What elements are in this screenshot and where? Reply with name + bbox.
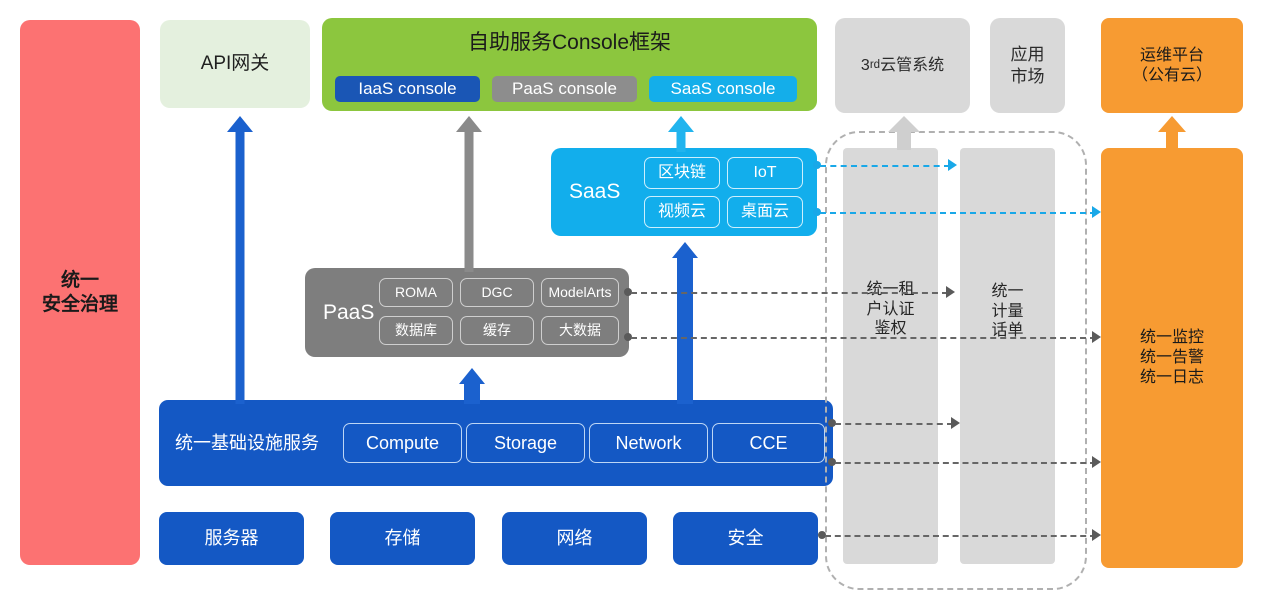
hardware-item-security: 安全 — [673, 512, 818, 565]
unified-infrastructure-label: 统一基础设施服务 — [175, 432, 319, 455]
saas-to-tenant-auth-line — [820, 165, 950, 167]
paas-item-bigdata[interactable]: 大数据 — [541, 316, 619, 345]
hardware-to-ops-line — [825, 535, 1096, 537]
saas-to-ops-arrowhead — [1092, 206, 1101, 218]
application-market-box: 应用 市场 — [990, 18, 1065, 113]
unified-tenant-auth-label: 统一租 户认证 鉴权 — [843, 280, 938, 339]
saas-item-desktop-cloud[interactable]: 桌面云 — [727, 196, 803, 228]
infra-to-ops-arrowhead — [1092, 456, 1101, 468]
unified-metering-column — [960, 148, 1055, 564]
unified-infrastructure-block: 统一基础设施服务 Compute Storage Network CCE — [159, 400, 833, 486]
saas-block: SaaS 区块链 IoT 视频云 桌面云 — [551, 148, 817, 236]
arrow-to-ops-platform — [1158, 116, 1186, 150]
hardware-to-ops-arrowhead — [1092, 529, 1101, 541]
architecture-diagram: 统一 安全治理 API网关 自助服务Console框架 IaaS console… — [0, 0, 1265, 605]
paas-item-modelarts[interactable]: ModelArts — [541, 278, 619, 307]
self-service-console-frame: 自助服务Console框架 IaaS console PaaS console … — [322, 18, 817, 111]
infra-to-tenant-auth-line — [835, 423, 953, 425]
paas-to-tenant-auth-arrowhead — [946, 286, 955, 298]
paas-item-database[interactable]: 数据库 — [379, 316, 453, 345]
saas-to-tenant-auth-arrowhead — [948, 159, 957, 171]
console-frame-title: 自助服务Console框架 — [322, 30, 817, 56]
security-governance-panel: 统一 安全治理 — [20, 20, 140, 565]
third-cloud-prefix: 3 — [861, 56, 870, 76]
unified-metering-label: 统一 计量 话单 — [960, 282, 1055, 341]
hardware-item-storage: 存储 — [330, 512, 475, 565]
paas-to-ops-line — [631, 337, 1096, 339]
infra-to-tenant-auth-arrowhead — [951, 417, 960, 429]
paas-item-roma[interactable]: ROMA — [379, 278, 453, 307]
saas-to-ops-line — [820, 212, 1096, 214]
hardware-item-network: 网络 — [502, 512, 647, 565]
unified-tenant-auth-column — [843, 148, 938, 564]
hardware-item-server: 服务器 — [159, 512, 304, 565]
api-gateway-box: API网关 — [160, 20, 310, 108]
ops-platform-column: 统一监控 统一告警 统一日志 — [1101, 148, 1243, 568]
iaas-console-chip[interactable]: IaaS console — [335, 76, 480, 102]
arrow-infra-to-paas — [459, 368, 485, 404]
infra-item-network[interactable]: Network — [589, 423, 708, 463]
saas-item-video-cloud[interactable]: 视频云 — [644, 196, 720, 228]
paas-item-cache[interactable]: 缓存 — [460, 316, 534, 345]
arrow-paas-to-console — [456, 116, 482, 272]
arrow-infra-to-api-gateway — [227, 116, 253, 404]
paas-item-dgc[interactable]: DGC — [460, 278, 534, 307]
arrow-to-third-cloud — [889, 116, 919, 150]
infra-to-ops-line — [835, 462, 1096, 464]
infra-item-cce[interactable]: CCE — [712, 423, 825, 463]
saas-console-chip[interactable]: SaaS console — [649, 76, 797, 102]
third-cloud-suffix: 云管系统 — [880, 56, 944, 76]
saas-item-blockchain[interactable]: 区块链 — [644, 157, 720, 189]
paas-label: PaaS — [323, 299, 374, 325]
infra-item-compute[interactable]: Compute — [343, 423, 462, 463]
paas-console-chip[interactable]: PaaS console — [492, 76, 637, 102]
third-party-cloud-management-box: 3rd云管系统 — [835, 18, 970, 113]
ops-platform-public-cloud-box: 运维平台 （公有云） — [1101, 18, 1243, 113]
arrow-saas-to-console — [668, 116, 694, 152]
arrow-infra-to-saas — [672, 242, 698, 404]
paas-to-ops-arrowhead — [1092, 331, 1101, 343]
saas-item-iot[interactable]: IoT — [727, 157, 803, 189]
third-cloud-superscript: rd — [870, 58, 880, 72]
infra-item-storage[interactable]: Storage — [466, 423, 585, 463]
paas-block: PaaS ROMA DGC ModelArts 数据库 缓存 大数据 — [305, 268, 629, 357]
paas-to-tenant-auth-line — [631, 292, 948, 294]
saas-label: SaaS — [569, 179, 620, 205]
